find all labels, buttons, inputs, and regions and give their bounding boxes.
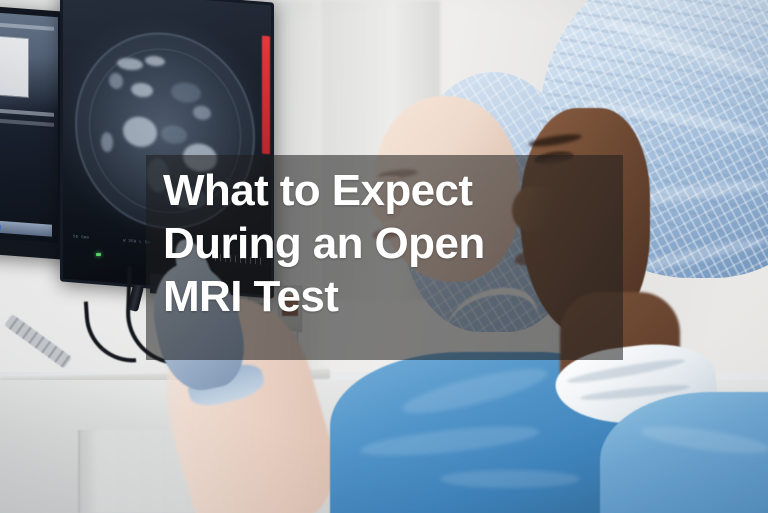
scan-osd-text: SE 5mm [73, 235, 89, 240]
page-title: What to Expect During an Open MRI Test [163, 164, 633, 323]
screen-toolbar [0, 20, 54, 30]
monitor-power-led [96, 253, 101, 256]
fabric-fold [440, 470, 580, 488]
ct-structure [101, 132, 113, 153]
screen-taskbar [0, 219, 52, 237]
screen-divider [0, 106, 54, 116]
screenshot-stage: SE 5mm W 350 L 50 [0, 0, 768, 513]
screen-divider [0, 116, 54, 126]
taskbar-icon [0, 224, 1, 229]
monitor-screen-left [0, 10, 58, 243]
monitor-red-marker [262, 36, 270, 155]
ct-structure [109, 72, 123, 89]
screen-window [0, 35, 28, 97]
